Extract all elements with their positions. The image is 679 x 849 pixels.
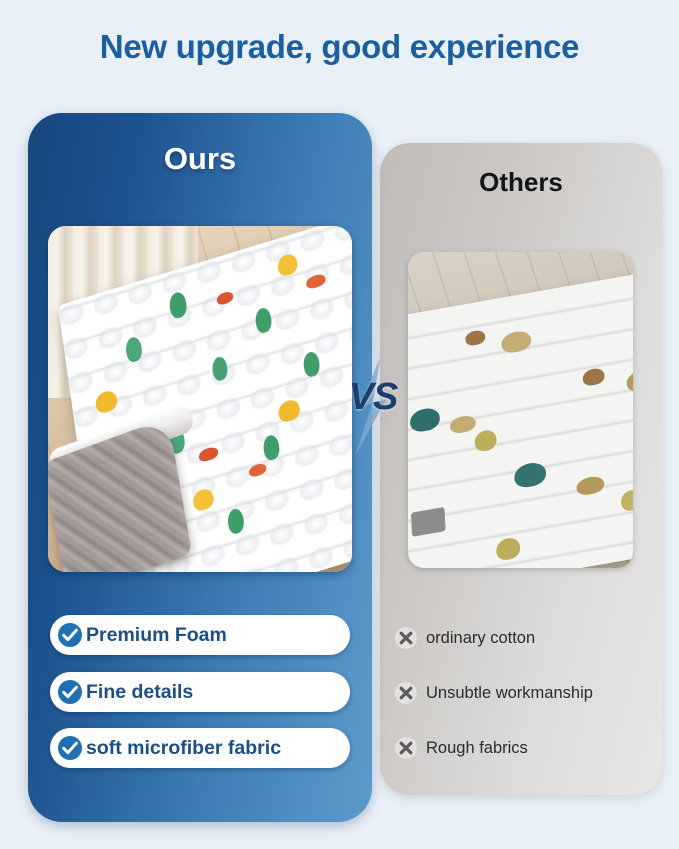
tree-motif xyxy=(410,406,441,433)
balloon-motif xyxy=(496,536,521,561)
x-circle-icon xyxy=(394,626,418,650)
versus-label: VS xyxy=(336,376,410,419)
animal-motif xyxy=(576,475,604,497)
tree-motif xyxy=(514,461,547,490)
others-card-title: Others xyxy=(380,167,662,198)
drawback-item: ordinary cotton xyxy=(394,625,535,651)
others-product-image xyxy=(408,252,633,568)
check-circle-icon xyxy=(57,679,83,705)
drawback-label: Unsubtle workmanship xyxy=(426,684,593,703)
house-motif xyxy=(411,507,446,537)
animal-motif xyxy=(450,414,476,435)
others-card: Others ordinary cotton xyxy=(380,143,662,795)
animal-motif xyxy=(465,329,485,347)
feature-pill: Premium Foam xyxy=(50,615,350,655)
ours-card-title: Ours xyxy=(28,141,372,177)
ours-product-image xyxy=(48,226,352,572)
balloon-motif xyxy=(474,429,497,453)
drawback-item: Unsubtle workmanship xyxy=(394,680,593,706)
drawback-item: Rough fabrics xyxy=(394,735,528,761)
feature-pill-label: soft microfiber fabric xyxy=(86,737,281,760)
feature-pill-label: Fine details xyxy=(86,681,193,704)
x-circle-icon xyxy=(394,681,418,705)
x-circle-icon xyxy=(394,736,418,760)
drawback-label: ordinary cotton xyxy=(426,629,535,648)
feature-pill: Fine details xyxy=(50,672,350,712)
page-title: New upgrade, good experience xyxy=(0,28,679,66)
check-circle-icon xyxy=(57,735,83,761)
feature-pill-label: Premium Foam xyxy=(86,624,227,647)
animal-motif xyxy=(501,329,532,354)
quilted-mat-others xyxy=(408,269,633,568)
drawback-label: Rough fabrics xyxy=(426,739,528,758)
animal-motif xyxy=(626,368,633,393)
animal-motif xyxy=(582,367,605,387)
balloon-motif xyxy=(621,488,633,512)
feature-pill: soft microfiber fabric xyxy=(50,728,350,768)
versus-badge: VS xyxy=(336,358,410,454)
check-circle-icon xyxy=(57,622,83,648)
ours-card: Ours xyxy=(28,113,372,822)
